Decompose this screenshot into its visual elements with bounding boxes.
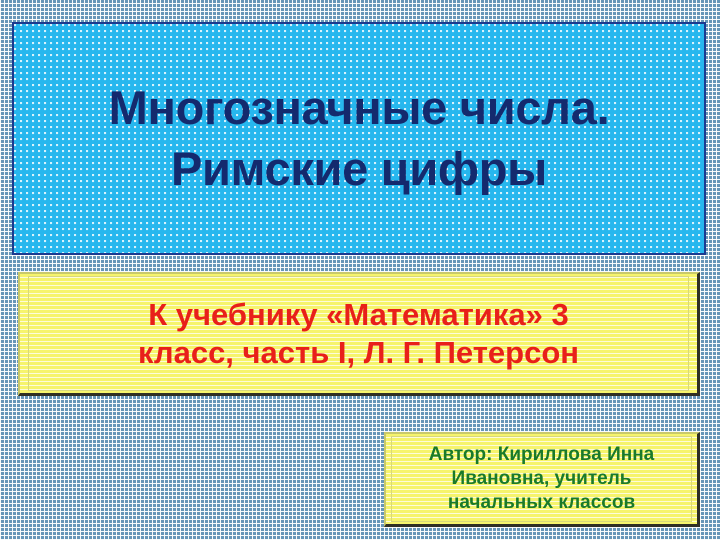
title-line-1: Многозначные числа. [109, 78, 610, 138]
author-line-1: Автор: Кириллова Инна [429, 443, 655, 467]
author-textbox[interactable]: Автор: Кириллова Инна Ивановна, учитель … [384, 432, 700, 527]
author-line-2: Ивановна, учитель [452, 467, 632, 491]
subtitle-textbox[interactable]: К учебнику «Математика» 3 класс, часть I… [18, 272, 700, 396]
presentation-slide: Многозначные числа. Римские цифры К учеб… [0, 0, 720, 540]
title-textbox[interactable]: Многозначные числа. Римские цифры [12, 22, 706, 255]
subtitle-line-1: К учебнику «Математика» 3 [148, 296, 568, 334]
author-inner-frame: Автор: Кириллова Инна Ивановна, учитель … [391, 436, 692, 522]
subtitle-line-2: класс, часть I, Л. Г. Петерсон [138, 334, 579, 372]
title-line-2: Римские цифры [171, 139, 547, 199]
author-line-3: начальных классов [448, 491, 635, 515]
subtitle-inner-frame: К учебнику «Математика» 3 класс, часть I… [28, 276, 689, 391]
